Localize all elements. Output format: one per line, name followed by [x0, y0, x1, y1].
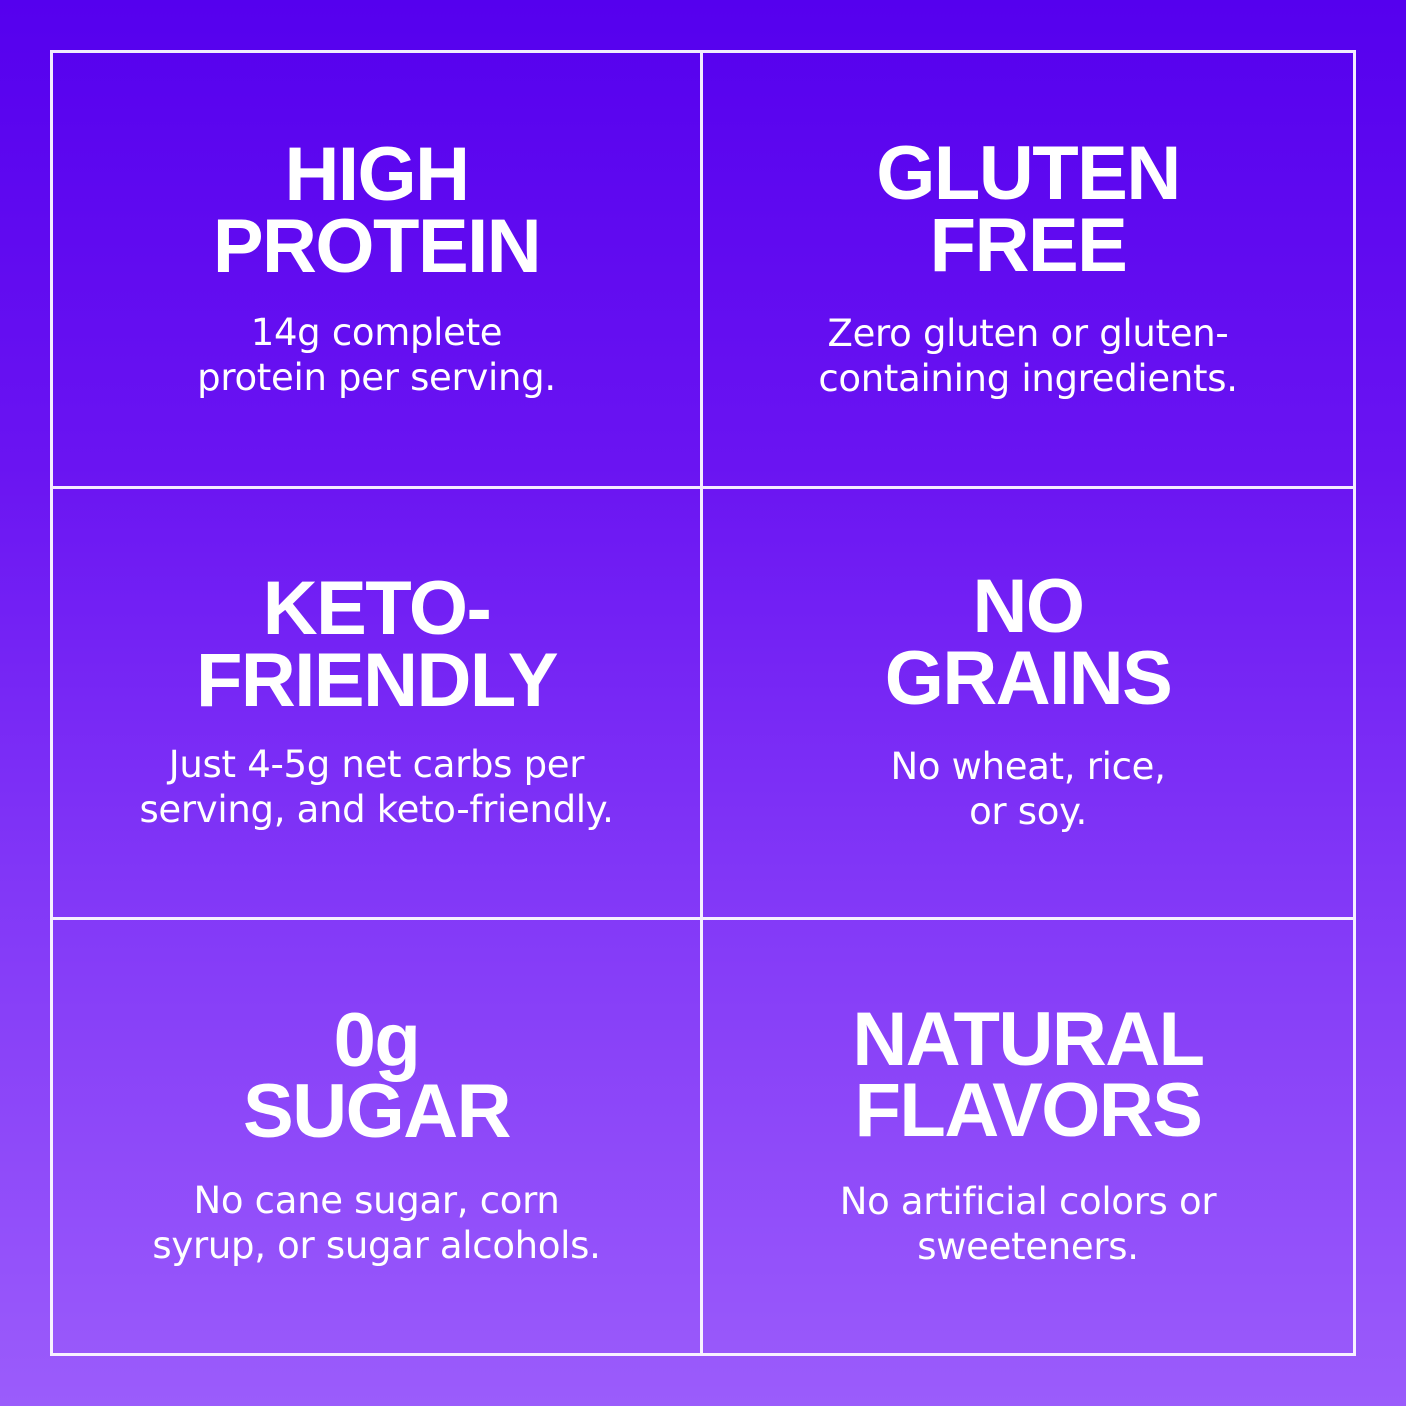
benefit-description: 14g complete protein per serving.	[197, 310, 556, 400]
benefit-headline: 0g SUGAR	[243, 1005, 510, 1148]
benefit-headline: GLUTEN FREE	[876, 138, 1179, 281]
benefit-description: No cane sugar, corn syrup, or sugar alco…	[152, 1178, 600, 1268]
benefit-card-gluten-free: GLUTEN FREE Zero gluten or gluten- conta…	[703, 53, 1353, 486]
benefit-headline: HIGH PROTEIN	[213, 139, 540, 282]
benefit-card-zero-sugar: 0g SUGAR No cane sugar, corn syrup, or s…	[53, 920, 703, 1353]
benefit-headline: NO GRAINS	[885, 571, 1172, 714]
benefit-description: No artificial colors or sweeteners.	[840, 1179, 1217, 1269]
benefit-card-natural-flavors: NATURAL FLAVORS No artificial colors or …	[703, 920, 1353, 1353]
benefit-description: No wheat, rice, or soy.	[890, 744, 1165, 834]
benefit-headline: KETO- FRIENDLY	[196, 573, 557, 716]
benefit-headline: NATURAL FLAVORS	[852, 1004, 1203, 1147]
benefit-card-keto-friendly: KETO- FRIENDLY Just 4-5g net carbs per s…	[53, 486, 703, 919]
benefit-grid: HIGH PROTEIN 14g complete protein per se…	[50, 50, 1356, 1356]
benefits-panel: HIGH PROTEIN 14g complete protein per se…	[0, 0, 1406, 1406]
benefit-description: Just 4-5g net carbs per serving, and ket…	[139, 742, 613, 832]
benefit-description: Zero gluten or gluten- containing ingred…	[818, 311, 1237, 401]
benefit-card-high-protein: HIGH PROTEIN 14g complete protein per se…	[53, 53, 703, 486]
benefit-card-no-grains: NO GRAINS No wheat, rice, or soy.	[703, 486, 1353, 919]
